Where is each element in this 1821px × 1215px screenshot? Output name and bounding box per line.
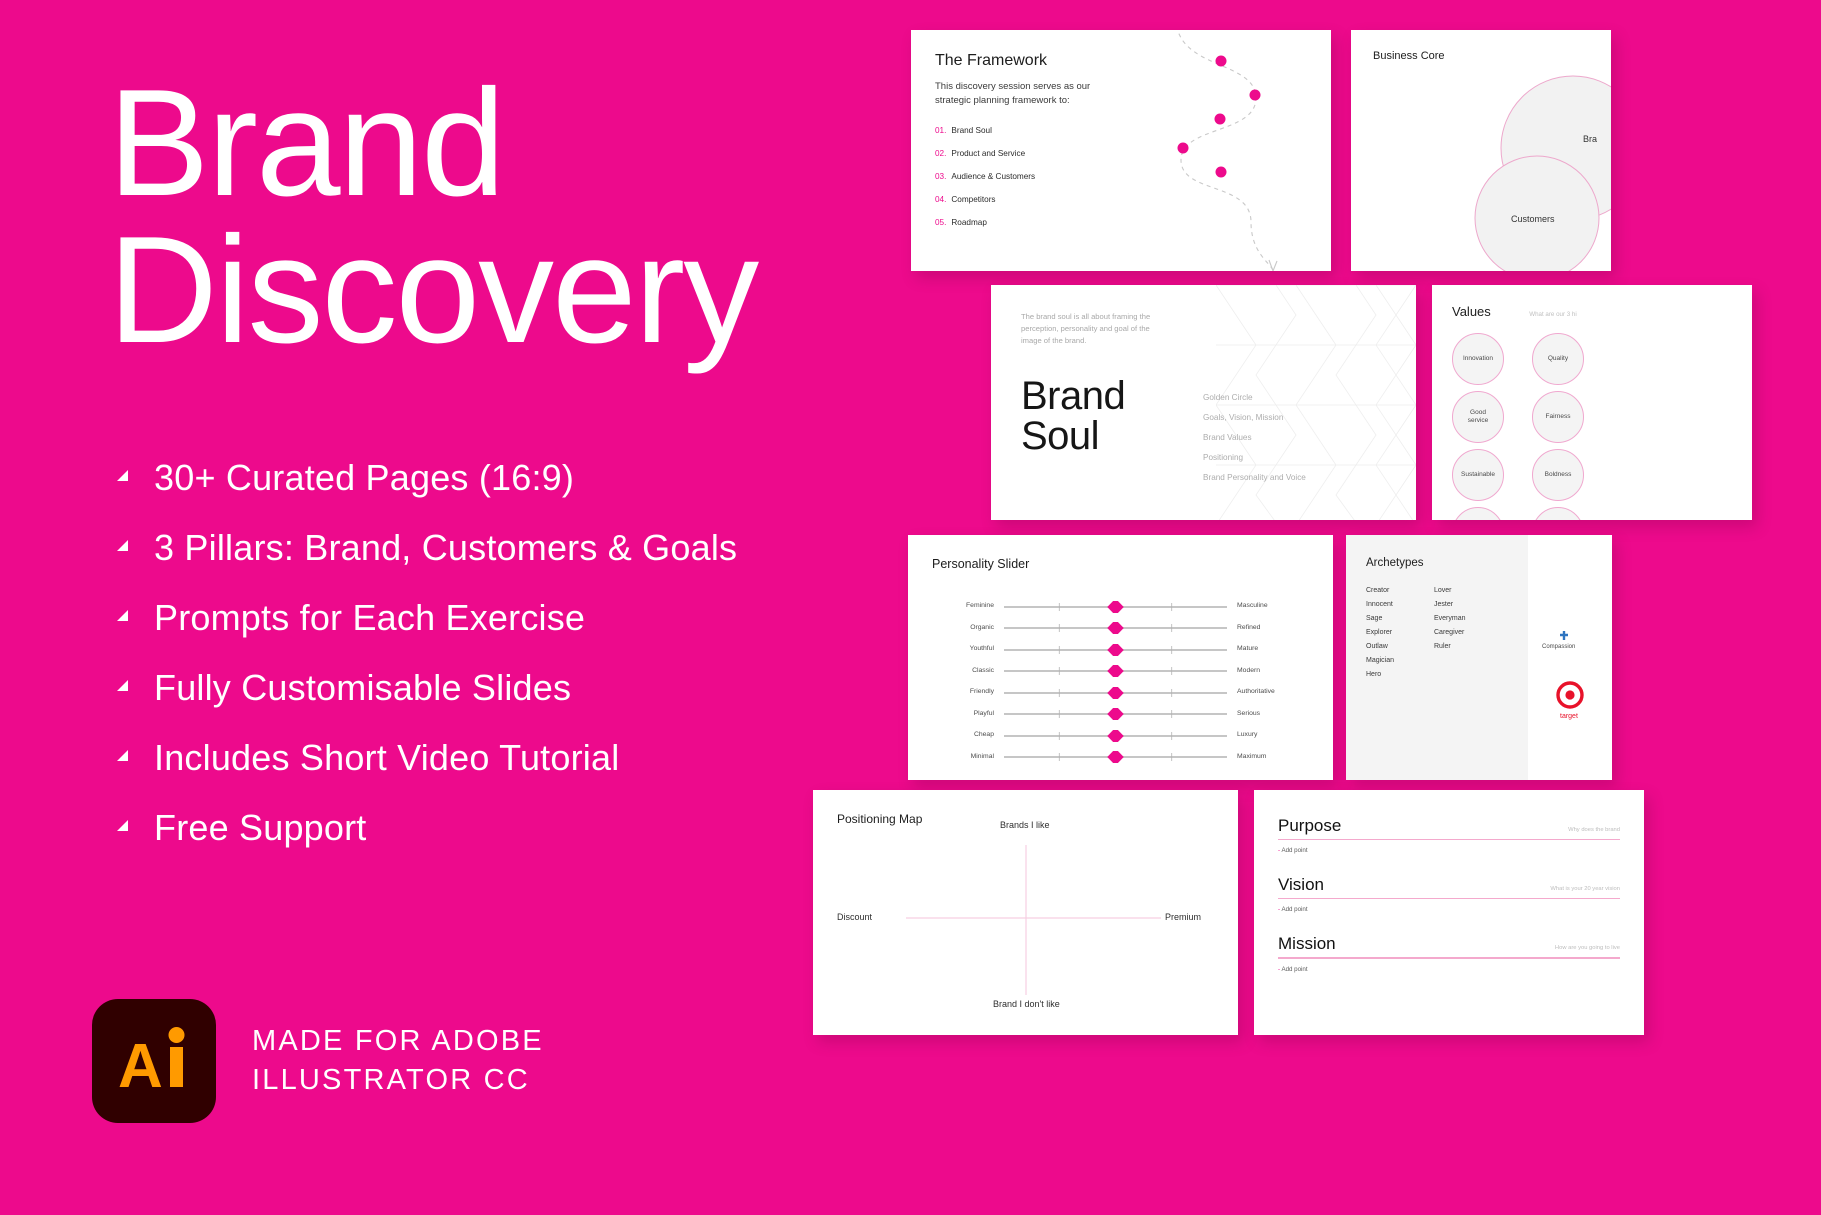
- item-label: Competitors: [951, 195, 995, 204]
- list-item: Fully Customisable Slides: [108, 653, 900, 723]
- slider-track[interactable]: [1004, 750, 1227, 762]
- divider: [1278, 839, 1620, 840]
- block-title: Mission: [1278, 934, 1336, 954]
- values-prompt: What are our 3 hi: [1529, 311, 1576, 318]
- slider-row[interactable]: Youthful Mature: [932, 638, 1309, 660]
- item-label: Brand Soul: [951, 126, 992, 135]
- add-point-button[interactable]: Add point: [1278, 966, 1620, 973]
- target-logo: target: [1558, 683, 1582, 720]
- value-circle[interactable]: Good service: [1452, 391, 1504, 443]
- value-circle[interactable]: Quality: [1532, 333, 1584, 385]
- slide-card-positioning-map[interactable]: Positioning Map Brands I like Brand I do…: [813, 790, 1238, 1035]
- value-circle[interactable]: Innovation: [1452, 333, 1504, 385]
- slider-left-label: Minimal: [932, 753, 1004, 760]
- framework-path-graphic: [1121, 30, 1331, 271]
- axis-label-left: Discount: [837, 912, 872, 922]
- list-item: Prompts for Each Exercise: [108, 583, 900, 653]
- list-item: Positioning: [1203, 453, 1306, 462]
- block-prompt: How are you going to live: [1555, 945, 1620, 951]
- value-circle[interactable]: Boldness: [1532, 449, 1584, 501]
- adobe-illustrator-icon: A: [92, 999, 216, 1123]
- axis-label-bottom: Brand I don't like: [993, 999, 1060, 1009]
- slider-track[interactable]: [1004, 729, 1227, 741]
- slide-card-values[interactable]: Values What are our 3 hi Innovation Qual…: [1432, 285, 1752, 520]
- block-prompt: What is your 20 year vision: [1550, 886, 1620, 892]
- values-circle-grid: Innovation Quality Good service Fairness…: [1452, 333, 1732, 520]
- slider-right-label: Refined: [1227, 624, 1309, 631]
- slide-card-brand-soul[interactable]: The brand soul is all about framing the …: [991, 285, 1416, 520]
- slide-card-archetypes[interactable]: Archetypes Creator Innocent Sage Explore…: [1346, 535, 1612, 780]
- list-item: Explorer: [1366, 629, 1434, 636]
- arrow-down-left-icon: [108, 742, 134, 773]
- svg-text:Bra: Bra: [1583, 134, 1597, 144]
- archetype-column-right: Lover Jester Everyman Caregiver Ruler: [1434, 587, 1502, 685]
- list-item: Golden Circle: [1203, 393, 1306, 402]
- slider-left-label: Youthful: [932, 645, 1004, 652]
- list-item: Innocent: [1366, 601, 1434, 608]
- hero-panel: Brand Discovery 30+ Curated Pages (16:9)…: [0, 0, 900, 1215]
- slider-track[interactable]: [1004, 621, 1227, 633]
- feature-label: 30+ Curated Pages (16:9): [154, 457, 574, 499]
- axis-label-right: Premium: [1165, 912, 1201, 922]
- block-prompt: Why does the brand: [1568, 827, 1620, 833]
- list-item: Sage: [1366, 615, 1434, 622]
- slider-left-label: Playful: [932, 710, 1004, 717]
- slider-row[interactable]: Feminine Masculine: [932, 595, 1309, 617]
- slide-card-personality-slider[interactable]: Personality Slider Feminine Masculine Or…: [908, 535, 1333, 780]
- list-item: Everyman: [1434, 615, 1502, 622]
- list-item: Magician: [1366, 657, 1434, 664]
- slider-row[interactable]: Friendly Authoritative: [932, 681, 1309, 703]
- slider-right-label: Luxury: [1227, 731, 1309, 738]
- arrow-down-left-icon: [108, 532, 134, 563]
- venn-diagram-graphic: Bra Customers: [1351, 30, 1611, 271]
- list-item: Creator: [1366, 587, 1434, 594]
- slider-track[interactable]: [1004, 686, 1227, 698]
- slider-track[interactable]: [1004, 600, 1227, 612]
- card-title: Archetypes: [1366, 557, 1508, 569]
- list-item: Outlaw: [1366, 643, 1434, 650]
- slider-right-label: Maximum: [1227, 753, 1309, 760]
- slider-track[interactable]: [1004, 664, 1227, 676]
- list-item: Includes Short Video Tutorial: [108, 723, 900, 793]
- svg-text:Compassion: Compassion: [1542, 644, 1575, 650]
- slide-card-framework[interactable]: The Framework This discovery session ser…: [911, 30, 1331, 271]
- svg-text:target: target: [1560, 713, 1578, 720]
- add-point-button[interactable]: Add point: [1278, 847, 1620, 854]
- archetypes-panel: Archetypes Creator Innocent Sage Explore…: [1346, 535, 1528, 780]
- axis-label-top: Brands I like: [1000, 820, 1050, 830]
- svg-text:Customers: Customers: [1511, 214, 1555, 224]
- value-circle[interactable]: Experien- iced: [1452, 507, 1504, 520]
- block-title: Vision: [1278, 875, 1324, 895]
- archetypes-logo-panel: Compassion target: [1528, 535, 1612, 780]
- slider-rows: Feminine Masculine Organic: [932, 595, 1309, 767]
- pvm-block: Purpose Why does the brand Add point: [1278, 816, 1620, 854]
- item-number: 02.: [935, 149, 946, 158]
- item-number: 05.: [935, 218, 946, 227]
- item-number: 04.: [935, 195, 946, 204]
- arrow-down-left-icon: [108, 462, 134, 493]
- list-item: Free Support: [108, 793, 900, 863]
- pvm-block: Mission How are you going to live Add po…: [1278, 934, 1620, 972]
- feature-label: Free Support: [154, 807, 367, 849]
- arrow-down-left-icon: [108, 602, 134, 633]
- block-title: Purpose: [1278, 816, 1341, 836]
- pvm-block: Vision What is your 20 year vision Add p…: [1278, 875, 1620, 913]
- slider-left-label: Organic: [932, 624, 1004, 631]
- feature-label: Prompts for Each Exercise: [154, 597, 585, 639]
- slider-right-label: Mature: [1227, 645, 1309, 652]
- list-item: Goals, Vision, Mission: [1203, 413, 1306, 422]
- item-label: Audience & Customers: [951, 172, 1035, 181]
- archetypes-columns: Creator Innocent Sage Explorer Outlaw Ma…: [1366, 587, 1508, 685]
- list-item: 30+ Curated Pages (16:9): [108, 443, 900, 513]
- card-title: Values: [1452, 304, 1491, 319]
- slider-row[interactable]: Cheap Luxury: [932, 724, 1309, 746]
- svg-text:A: A: [118, 1032, 163, 1101]
- slider-row[interactable]: Organic Refined: [932, 617, 1309, 639]
- slider-left-label: Feminine: [932, 602, 1004, 609]
- compassion-logo: Compassion: [1542, 631, 1575, 650]
- list-item: Lover: [1434, 587, 1502, 594]
- divider: [1278, 957, 1620, 958]
- item-number: 03.: [935, 172, 946, 181]
- list-item: Brand Values: [1203, 433, 1306, 442]
- value-circle[interactable]: Disruptive: [1532, 507, 1584, 520]
- value-circle[interactable]: Fairness: [1532, 391, 1584, 443]
- slider-row[interactable]: Playful Serious: [932, 703, 1309, 725]
- item-label: Roadmap: [951, 218, 987, 227]
- made-for-adobe: A MADE FOR ADOBE ILLUSTRATOR CC: [92, 999, 544, 1123]
- feature-label: Includes Short Video Tutorial: [154, 737, 619, 779]
- feature-label: Fully Customisable Slides: [154, 667, 571, 709]
- slider-right-label: Serious: [1227, 710, 1309, 717]
- list-item: Brand Personality and Voice: [1203, 473, 1306, 482]
- brand-soul-topic-list: Golden Circle Goals, Vision, Mission Bra…: [1203, 393, 1306, 493]
- value-circle[interactable]: Sustainable: [1452, 449, 1504, 501]
- slider-right-label: Authoritative: [1227, 688, 1309, 695]
- slider-left-label: Cheap: [932, 731, 1004, 738]
- slide-card-purpose-vision-mission[interactable]: Purpose Why does the brand Add point Vis…: [1254, 790, 1644, 1035]
- list-item: Caregiver: [1434, 629, 1502, 636]
- slider-row[interactable]: Classic Modern: [932, 660, 1309, 682]
- list-item: Hero: [1366, 671, 1434, 678]
- slider-left-label: Classic: [932, 667, 1004, 674]
- item-number: 01.: [935, 126, 946, 135]
- divider: [1278, 898, 1620, 899]
- feature-label: 3 Pillars: Brand, Customers & Goals: [154, 527, 737, 569]
- arrow-down-left-icon: [108, 672, 134, 703]
- list-item: Ruler: [1434, 643, 1502, 650]
- list-item: Jester: [1434, 601, 1502, 608]
- archetype-column-left: Creator Innocent Sage Explorer Outlaw Ma…: [1366, 587, 1434, 685]
- made-for-label: MADE FOR ADOBE ILLUSTRATOR CC: [252, 1022, 544, 1100]
- card-title: Personality Slider: [932, 557, 1309, 571]
- arrow-down-left-icon: [108, 812, 134, 843]
- slider-track[interactable]: [1004, 707, 1227, 719]
- item-label: Product and Service: [951, 149, 1025, 158]
- feature-list: 30+ Curated Pages (16:9) 3 Pillars: Bran…: [108, 443, 900, 863]
- slider-left-label: Friendly: [932, 688, 1004, 695]
- page-title: Brand Discovery: [108, 70, 900, 365]
- slider-row[interactable]: Minimal Maximum: [932, 746, 1309, 768]
- slider-right-label: Masculine: [1227, 602, 1309, 609]
- add-point-button[interactable]: Add point: [1278, 906, 1620, 913]
- list-item: 3 Pillars: Brand, Customers & Goals: [108, 513, 900, 583]
- slide-card-business-core[interactable]: Bra Customers Business Core: [1351, 30, 1611, 271]
- slider-track[interactable]: [1004, 643, 1227, 655]
- slider-right-label: Modern: [1227, 667, 1309, 674]
